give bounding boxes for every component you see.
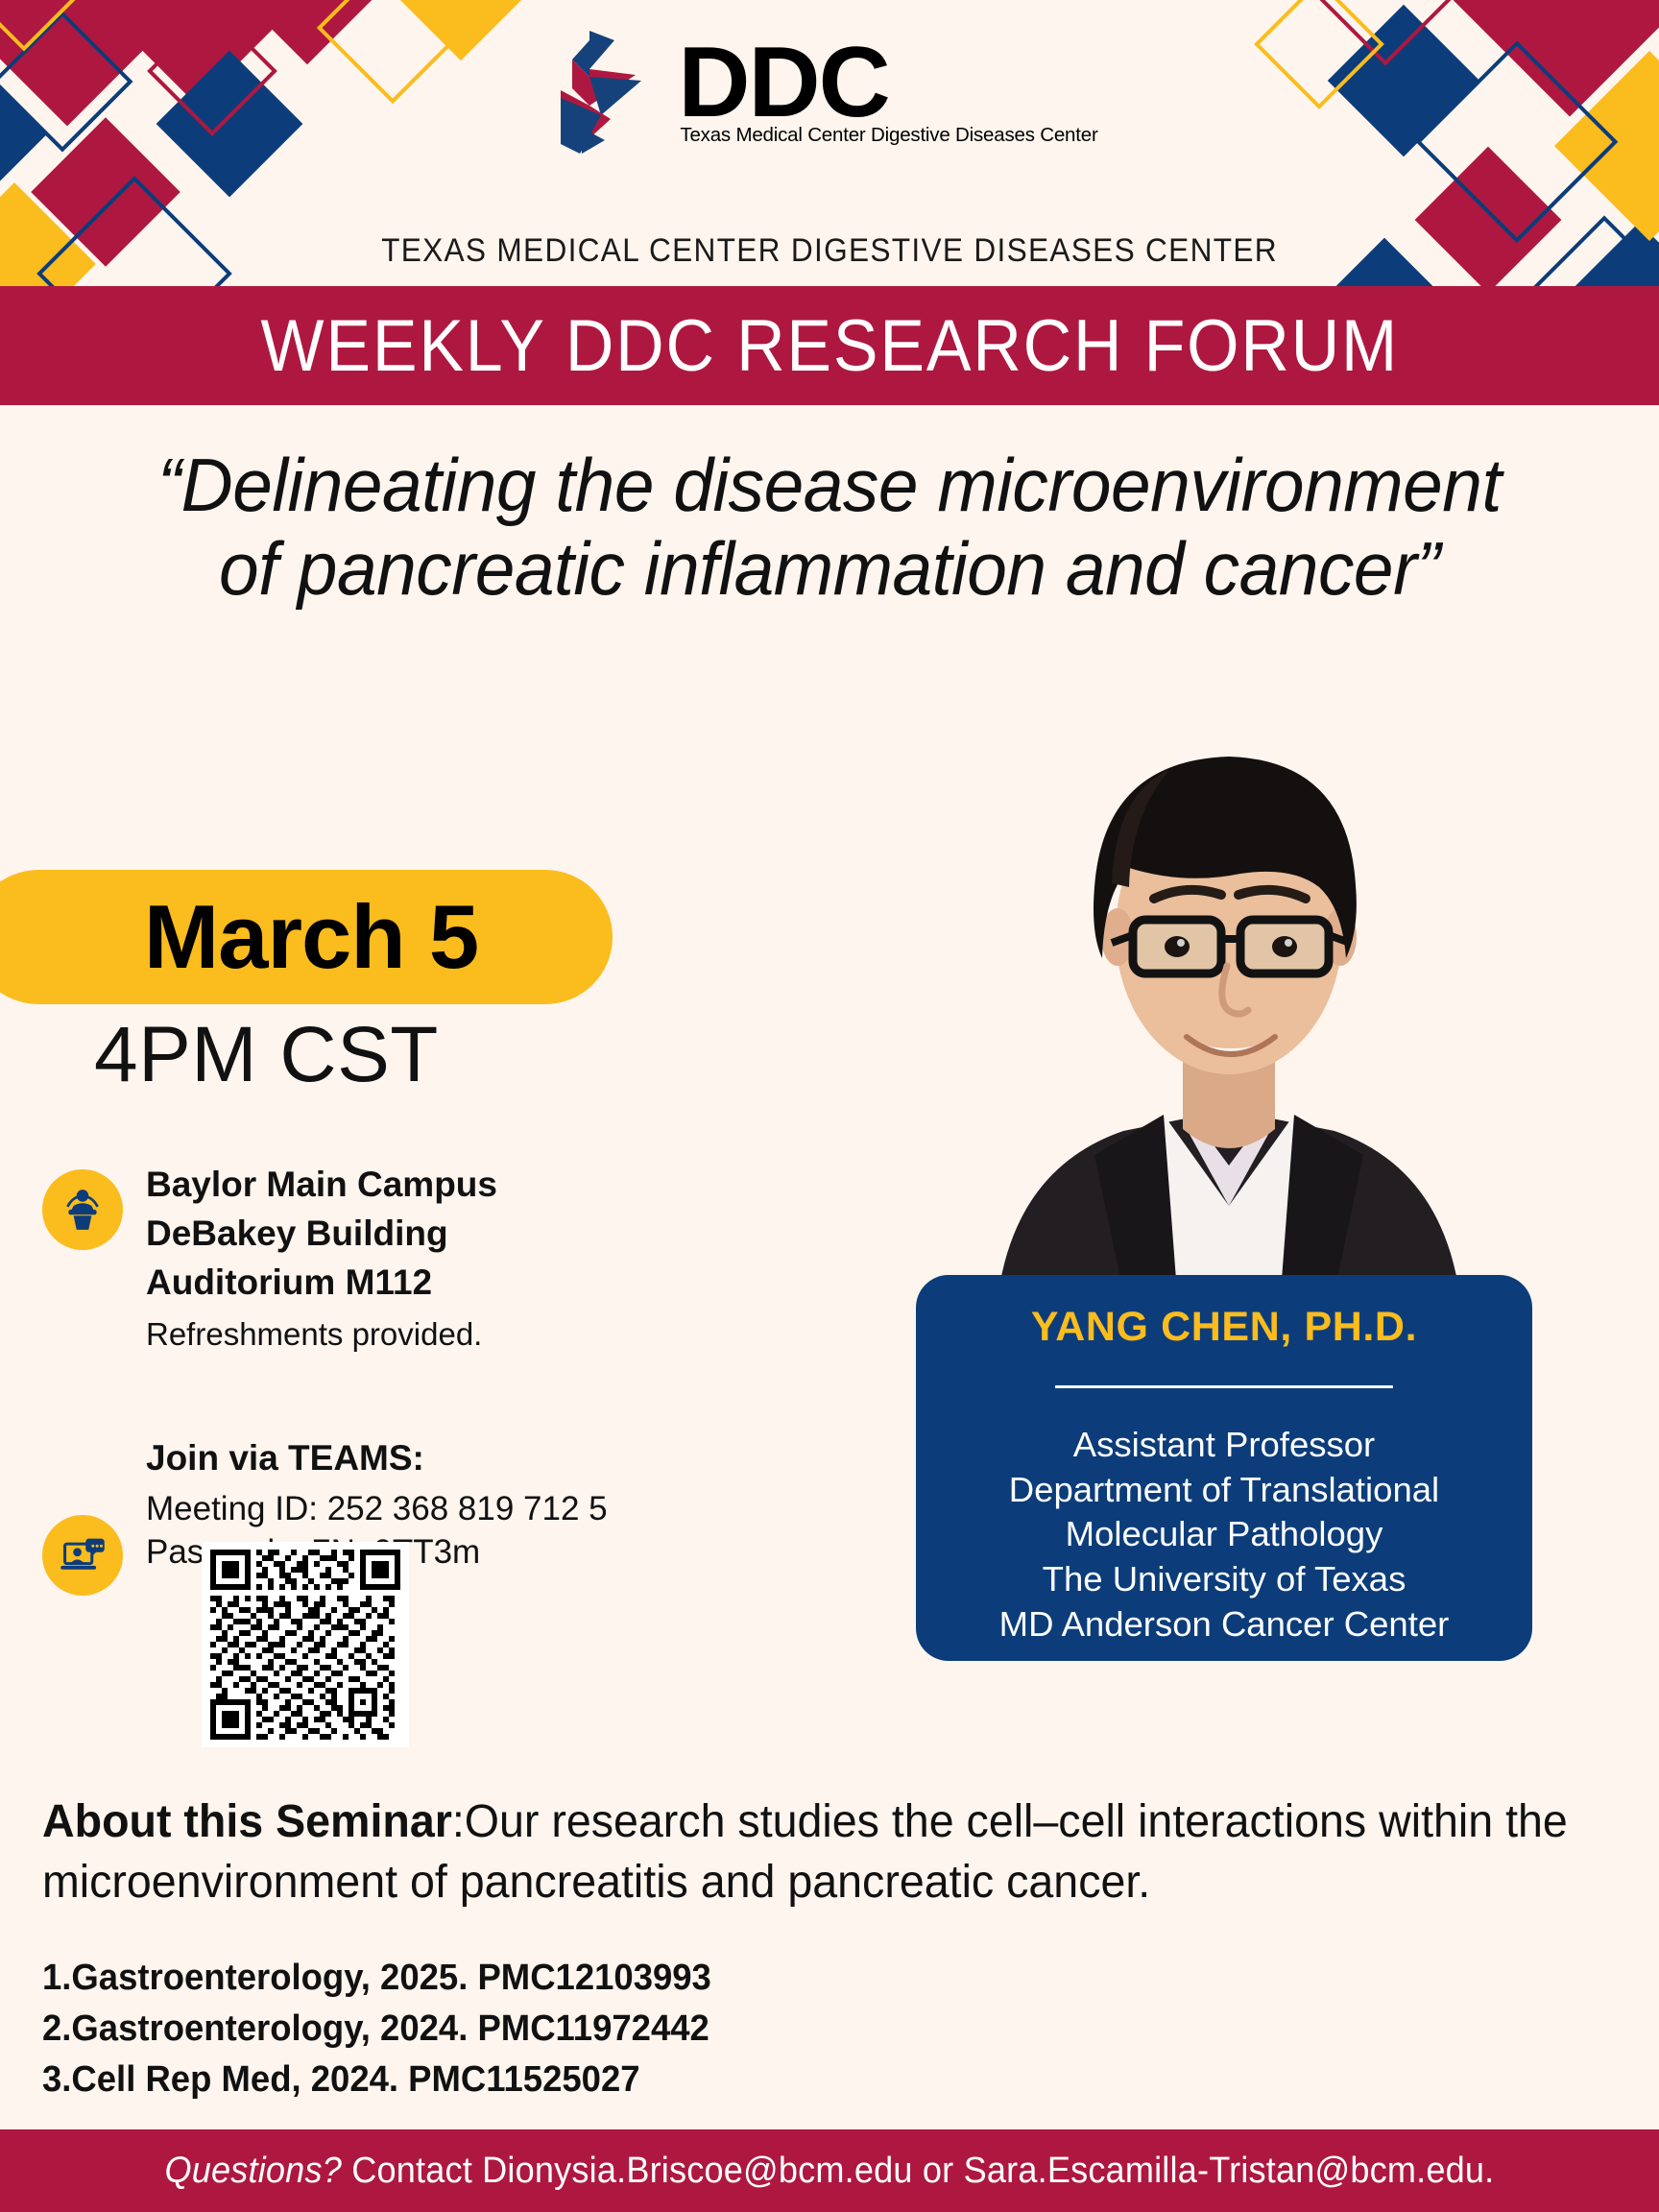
qr-code-graphic [209, 1550, 401, 1740]
footer-contact-text[interactable]: Contact Dionysia.Briscoe@bcm.edu or Sara… [342, 2151, 1494, 2191]
about-heading: About this Seminar [42, 1796, 452, 1847]
ddc-logo-mark-icon [561, 31, 674, 154]
organization-name: TEXAS MEDICAL CENTER DIGESTIVE DISEASES … [58, 232, 1600, 270]
podium-icon-glyph [59, 1186, 107, 1234]
speaker-name: YANG CHEN, PH.D. [1031, 1304, 1417, 1351]
seminar-title-line-2: of pancreatic inflammation and cancer” [46, 527, 1613, 611]
page-title: “Delineating the disease microenvironmen… [46, 444, 1613, 612]
reference-list: 1.Gastroenterology, 2025. PMC12103993 2.… [42, 1953, 711, 2106]
teams-join-label: Join via TEAMS: [146, 1438, 703, 1479]
teams-meeting-id: Meeting ID: 252 368 819 712 5 [146, 1488, 703, 1531]
video-meeting-icon [42, 1515, 123, 1596]
banner: WEEKLY DDC RESEARCH FORUM [0, 286, 1659, 405]
venue-info: Baylor Main Campus DeBakey Building Audi… [146, 1160, 693, 1353]
affiliation-line-2: Department of Translational [999, 1468, 1450, 1513]
seminar-flyer: DDC Texas Medical Center Digestive Disea… [0, 0, 1659, 2212]
list-item: 2.Gastroenterology, 2024. PMC11972442 [42, 2004, 711, 2055]
list-item: 3.Cell Rep Med, 2024. PMC11525027 [42, 2055, 711, 2105]
footer-questions-label: Questions? [165, 2151, 343, 2191]
about-section: About this Seminar:Our research studies … [42, 1791, 1579, 1913]
banner-title: WEEKLY DDC RESEARCH FORUM [260, 304, 1399, 388]
event-date: March 5 [106, 885, 478, 989]
qr-code[interactable] [202, 1542, 409, 1747]
speaker-divider [1055, 1385, 1393, 1388]
venue-line-1: Baylor Main Campus [146, 1160, 693, 1209]
speaker-card: YANG CHEN, PH.D. Assistant Professor Dep… [916, 1275, 1532, 1661]
list-item: 1.Gastroenterology, 2025. PMC12103993 [42, 1953, 711, 2004]
footer: Questions? Contact Dionysia.Briscoe@bcm.… [0, 2129, 1659, 2212]
affiliation-line-4: The University of Texas [999, 1557, 1450, 1602]
affiliation-line-3: Molecular Pathology [999, 1512, 1450, 1557]
speaker-portrait-graphic [941, 678, 1517, 1292]
event-time: 4PM CST [94, 1010, 439, 1100]
logo-acronym: DDC [678, 37, 888, 130]
affiliation-line-1: Assistant Professor [999, 1423, 1450, 1468]
seminar-title-line-1: “Delineating the disease microenvironmen… [46, 444, 1613, 527]
podium-speaker-icon [42, 1169, 123, 1250]
laptop-chat-icon-glyph [58, 1530, 108, 1580]
venue-line-2: DeBakey Building [146, 1209, 693, 1258]
speaker-photo [941, 678, 1517, 1292]
venue-line-3: Auditorium M112 [146, 1258, 693, 1307]
logo-tagline: Texas Medical Center Digestive Diseases … [680, 124, 1097, 147]
affiliation-line-5: MD Anderson Cancer Center [999, 1602, 1450, 1647]
refreshments-note: Refreshments provided. [146, 1316, 693, 1353]
date-badge: March 5 [0, 870, 613, 1004]
footer-contact: Questions? Contact Dionysia.Briscoe@bcm.… [165, 2151, 1495, 2192]
speaker-affiliation: Assistant Professor Department of Transl… [999, 1423, 1450, 1647]
ddc-logo: DDC Texas Medical Center Digestive Disea… [0, 31, 1659, 154]
